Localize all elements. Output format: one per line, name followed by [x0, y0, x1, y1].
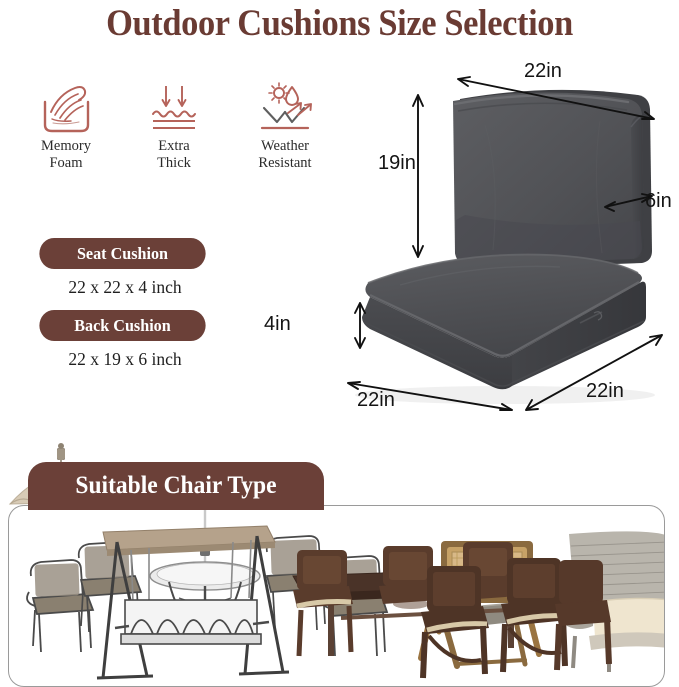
dimension-label-back-thickness: 6in	[645, 190, 672, 213]
feature-label: Memory Foam	[14, 138, 118, 172]
infographic-page: Outdoor Cushions Size Selection Memory F…	[0, 0, 679, 656]
feature-label: Extra Thick	[122, 138, 226, 172]
back-cushion-dimensions: 22 x 19 x 6 inch	[20, 349, 230, 370]
suitable-chair-section: Suitable Chair Type	[0, 440, 679, 656]
seat-cushion-dimensions: 22 x 22 x 4 inch	[20, 277, 230, 298]
dimension-label-seat-thickness: 4in	[264, 313, 291, 336]
canopy-porch-swing	[97, 526, 289, 678]
feature-memory-foam: Memory Foam	[14, 80, 118, 172]
seat-cushion-graphic	[362, 255, 646, 390]
furniture-illustrations	[9, 506, 665, 687]
dimension-label-seat-width: 22in	[357, 389, 395, 412]
memory-foam-icon	[14, 80, 118, 136]
chair-type-panel	[8, 505, 665, 687]
feature-extra-thick: Extra Thick	[122, 80, 226, 172]
badge-back-cushion: Back Cushion	[39, 310, 205, 341]
extra-thick-icon	[122, 80, 226, 136]
suitable-chair-banner: Suitable Chair Type	[28, 462, 324, 510]
badge-seat-cushion: Seat Cushion	[39, 238, 205, 269]
dimension-label-back-width: 22in	[524, 60, 562, 83]
page-title: Outdoor Cushions Size Selection	[24, 2, 655, 45]
dimension-label-seat-depth: 22in	[586, 380, 624, 403]
back-cushion-graphic	[453, 90, 652, 269]
dimension-label-back-height: 19in	[378, 152, 416, 175]
